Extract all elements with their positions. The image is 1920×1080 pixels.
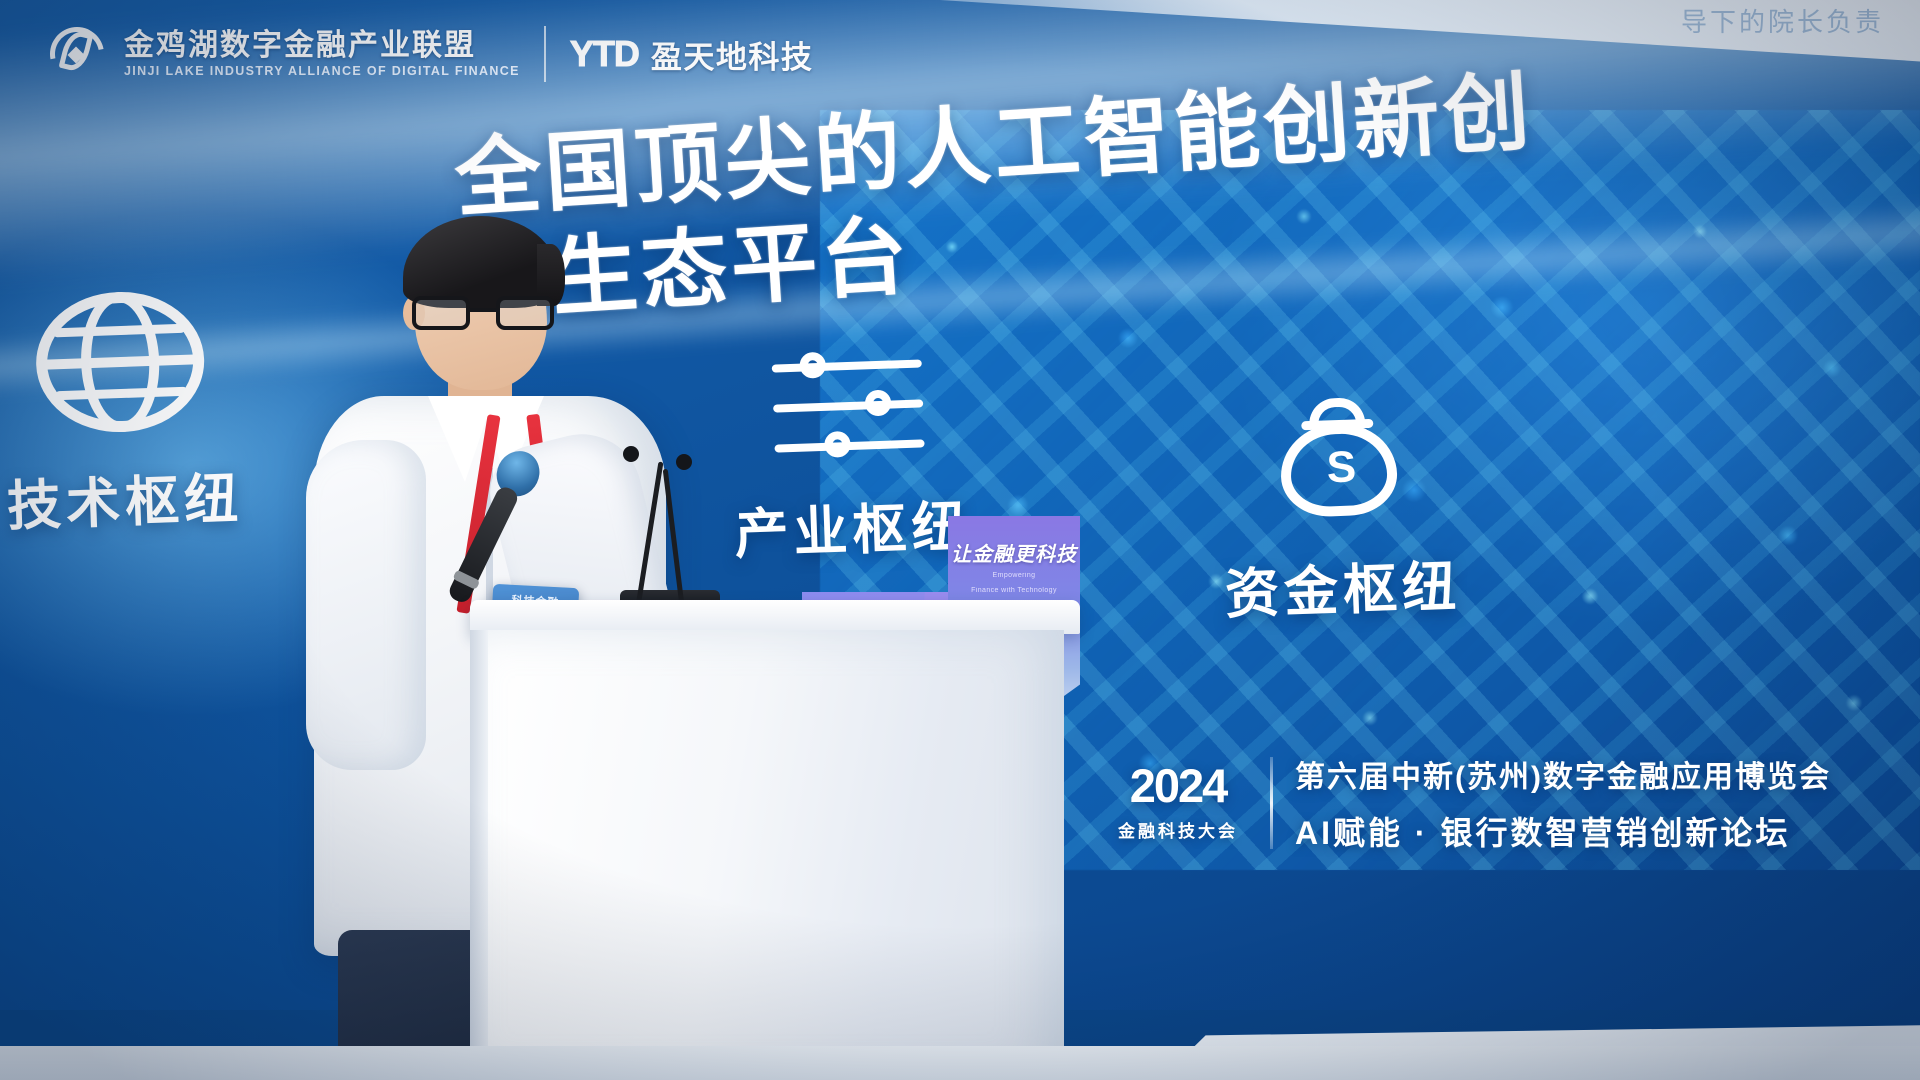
conference-logo: 2024 金融科技大会 [1108,764,1248,842]
hub-tech-label: 技术枢纽 [0,452,306,544]
floor-strip [0,1046,1920,1080]
money-bag-icon: S [1270,378,1407,523]
conference-title-line1: 第六届中新(苏州)数字金融应用博览会 [1295,752,1831,796]
faint-top-text: 导下的院长负责 [1681,2,1884,39]
hub-fund-label: 资金枢纽 [1152,539,1535,631]
conference-branding: 2024 金融科技大会 第六届中新(苏州)数字金融应用博览会 AI赋能 · 银行… [1108,752,1831,854]
podium-sign-en-1: Empowering [993,571,1036,582]
speaker-left-arm [306,440,426,770]
sliders-icon [771,349,925,462]
speaker-hair [403,216,559,308]
eyeglasses-icon [410,296,556,332]
podium-sign-cn: 让金融更科技 [951,538,1077,567]
header-logo-bar: 金鸡湖数字金融产业联盟 JINJI LAKE INDUSTRY ALLIANCE… [0,0,920,108]
stage-photo: 导下的院长负责 金鸡湖数字金融产业联盟 JINJI LAKE INDUSTRY … [0,0,1920,1080]
alliance-en-name: JINJI LAKE INDUSTRY ALLIANCE OF DIGITAL … [124,64,520,78]
alliance-logo: 金鸡湖数字金融产业联盟 JINJI LAKE INDUSTRY ALLIANCE… [46,23,520,85]
podium-body [486,630,1064,1080]
podium-left-edge [470,630,488,1080]
conference-title-line2: AI赋能 · 银行数智营销创新论坛 [1295,808,1831,854]
partner-logo: YTD 盈天地科技 [570,32,814,77]
alliance-cn-name: 金鸡湖数字金融产业联盟 [124,30,520,62]
hub-tech: 技术枢纽 [0,286,306,543]
lotus-swirl-icon [46,23,108,85]
podium: 让金融更科技 Empowering Finance with Technolog… [470,600,1080,1080]
branding-divider-icon [1270,757,1273,849]
hub-fund: S 资金枢纽 [1146,373,1534,631]
podium-sign-en-2: Finance with Technology [971,586,1057,597]
conference-short-name: 金融科技大会 [1118,817,1238,842]
vertical-divider-icon [544,26,546,82]
ytd-monogram-icon: YTD [570,33,639,75]
podium-top-surface [470,600,1080,634]
globe-icon [34,289,207,435]
conference-year: 2024 [1130,764,1227,809]
partner-cn-name: 盈天地科技 [651,32,814,77]
